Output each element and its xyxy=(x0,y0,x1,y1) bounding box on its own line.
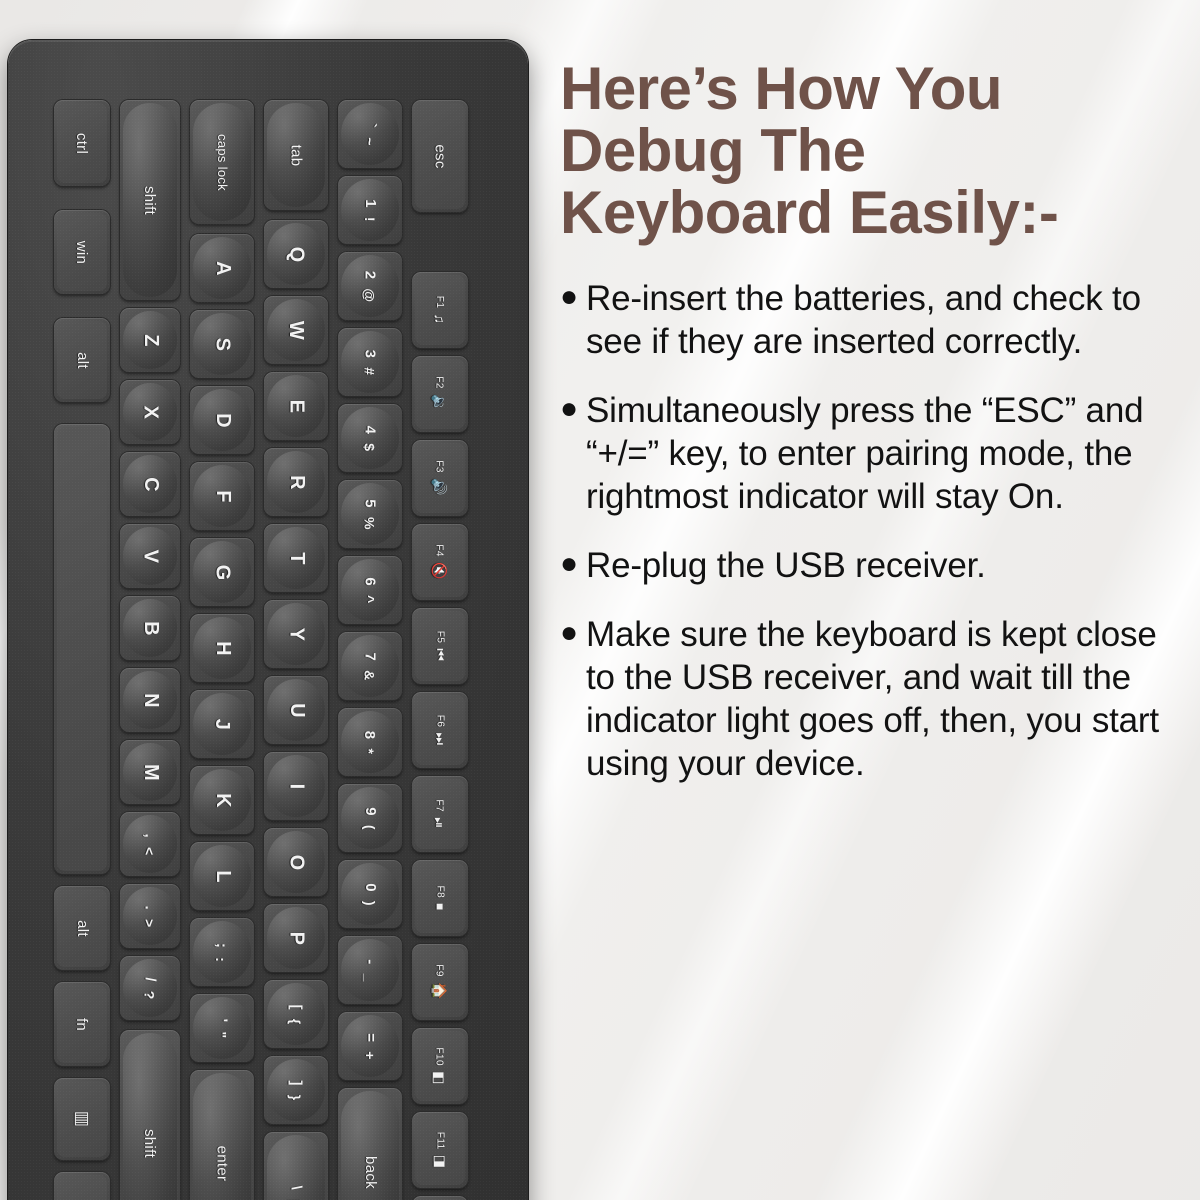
key-shifted-legend: ~ xyxy=(362,137,378,145)
key-label: U xyxy=(285,703,308,718)
key-fn[interactable]: fn xyxy=(54,982,110,1066)
key-shifted-legend: < xyxy=(142,846,158,854)
key-shifted-legend: * xyxy=(362,748,378,754)
list-item-text: Make sure the keyboard is kept close to … xyxy=(586,613,1186,785)
key-base-legend: , xyxy=(141,833,158,837)
key-r[interactable]: R xyxy=(264,448,328,516)
fn-label: F10 xyxy=(434,1047,445,1066)
key-o[interactable]: O xyxy=(264,828,328,896)
key-enter[interactable]: enter xyxy=(190,1070,254,1200)
key-shifted-legend: ! xyxy=(362,216,378,221)
key-label: J xyxy=(211,718,234,729)
next-track-icon: ⏭ xyxy=(433,732,447,745)
key-label: F xyxy=(211,490,234,503)
browser-back-icon: ◧ xyxy=(433,1071,447,1085)
key-label: R xyxy=(285,475,308,490)
key-tab[interactable]: tab xyxy=(264,100,328,210)
key-d[interactable]: D xyxy=(190,386,254,454)
fn-label: F4 xyxy=(435,544,446,557)
key-label: % 5 xyxy=(362,499,379,529)
key-e[interactable]: E xyxy=(264,372,328,440)
key-label: shift xyxy=(141,1128,158,1157)
title-line-2: Debug The xyxy=(560,120,1186,182)
fn-label: F8 xyxy=(434,886,445,899)
key-label: & 7 xyxy=(361,652,378,680)
title-line-3: Keyboard Easily:- xyxy=(560,182,1186,244)
key-label: alt xyxy=(74,920,91,937)
key-x[interactable]: X xyxy=(120,380,180,444)
key-f3[interactable]: 🔊 F3 xyxy=(412,440,468,516)
key-shifted-legend: ) xyxy=(362,900,378,905)
key-slash[interactable]: ? / xyxy=(120,956,180,1020)
key-label: L xyxy=(211,870,234,883)
key-shifted-legend: ? xyxy=(142,990,158,999)
fn-label: F7 xyxy=(434,799,445,812)
key-win[interactable]: win xyxy=(54,210,110,294)
content-panel: Here’s How You Debug The Keyboard Easily… xyxy=(552,0,1200,1200)
key-base-legend: 6 xyxy=(361,577,378,586)
key-a[interactable]: A xyxy=(190,234,254,302)
key-c[interactable]: C xyxy=(120,452,180,516)
key-label: 🔉 F2 xyxy=(433,376,447,411)
key-shifted-legend: @ xyxy=(362,288,378,302)
key-8[interactable]: * 8 xyxy=(338,708,402,776)
key-shifted-legend: ( xyxy=(362,824,378,829)
key-f5[interactable]: ⏮ F5 xyxy=(412,608,468,684)
key-bracket-right[interactable]: } ] xyxy=(264,1056,328,1124)
key-label: } ] xyxy=(287,1080,304,1100)
key-y[interactable]: Y xyxy=(264,600,328,668)
fn-label: F1 xyxy=(434,296,445,309)
key-equals[interactable]: + = xyxy=(338,1012,402,1080)
key-label: _ - xyxy=(361,959,378,981)
key-shifted-legend: _ xyxy=(362,973,378,981)
key-label: H xyxy=(211,641,234,656)
key-label: T xyxy=(285,552,308,565)
key-n[interactable]: N xyxy=(120,668,180,732)
key-base-legend: . xyxy=(141,905,158,909)
key-7[interactable]: & 7 xyxy=(338,632,402,700)
key-label: 🔇 F4 xyxy=(433,544,447,579)
fn-label: F3 xyxy=(435,460,446,473)
key-label: " ' xyxy=(213,1018,230,1038)
keyboard-image: ctrl win alt alt fn ▥ ctrl xyxy=(0,40,537,1200)
key-q[interactable]: Q xyxy=(264,220,328,288)
key-label: W xyxy=(285,320,308,339)
key-caps-lock[interactable]: caps lock xyxy=(190,100,254,224)
list-item: ● Re-plug the USB receiver. xyxy=(560,544,1186,587)
key-k[interactable]: K xyxy=(190,766,254,834)
key-alt-top[interactable]: alt xyxy=(54,318,110,402)
key-shifted-legend: " xyxy=(214,1031,230,1038)
key-base-legend: 3 xyxy=(362,349,379,358)
home-icon: 🏠 xyxy=(433,982,447,1000)
key-label: 🏠 F9 xyxy=(433,964,447,999)
key-shifted-legend: > xyxy=(142,918,158,926)
key-f[interactable]: F xyxy=(190,462,254,530)
key-label: ! 1 xyxy=(362,199,379,222)
fn-label: F2 xyxy=(435,376,446,389)
key-semicolon[interactable]: : ; xyxy=(190,918,254,986)
key-h[interactable]: H xyxy=(190,614,254,682)
key-z[interactable]: Z xyxy=(120,308,180,372)
key-g[interactable]: G xyxy=(190,538,254,606)
key-shift-bottom[interactable]: shift xyxy=(120,1030,180,1200)
key-esc[interactable]: esc xyxy=(412,100,468,212)
key-comma[interactable]: < , xyxy=(120,812,180,876)
key-shifted-legend: % xyxy=(362,516,378,529)
key-shifted-legend: & xyxy=(362,670,378,680)
key-label: Y xyxy=(284,627,307,641)
fn-label: F9 xyxy=(435,964,446,977)
key-f4[interactable]: 🔇 F4 xyxy=(412,524,468,600)
key-label: S xyxy=(210,337,233,351)
key-minus[interactable]: _ - xyxy=(338,936,402,1004)
key-label: N xyxy=(139,693,162,708)
key-label: esc xyxy=(432,144,449,168)
key-u[interactable]: U xyxy=(264,676,328,744)
key-m[interactable]: M xyxy=(120,740,180,804)
key-4[interactable]: $ 4 xyxy=(338,404,402,472)
page-title: Here’s How You Debug The Keyboard Easily… xyxy=(560,58,1186,243)
key-label: caps lock xyxy=(214,134,229,191)
key-label: # 3 xyxy=(362,349,379,375)
key-f1[interactable]: ♫ F1 xyxy=(412,272,468,348)
fn-label: F5 xyxy=(434,631,445,644)
key-0[interactable]: ) 0 xyxy=(338,860,402,928)
key-ctrl-top[interactable]: ctrl xyxy=(54,100,110,186)
title-line-1: Here’s How You xyxy=(560,58,1186,120)
key-shifted-legend: $ xyxy=(362,443,378,451)
key-alt-bottom[interactable]: alt xyxy=(54,886,110,970)
key-shifted-legend: + xyxy=(362,1051,378,1059)
key-period[interactable]: > . xyxy=(120,884,180,948)
key-9[interactable]: ( 9 xyxy=(338,784,402,852)
music-note-icon: ♫ xyxy=(433,313,447,324)
instruction-list: ● Re-insert the batteries, and check to … xyxy=(560,277,1186,785)
key-f7[interactable]: ⏯ F7 xyxy=(412,776,468,852)
key-p[interactable]: P xyxy=(264,904,328,972)
key-label: I xyxy=(284,783,307,789)
key-l[interactable]: L xyxy=(190,842,254,910)
key-label: win xyxy=(73,240,90,263)
key-label: ⏹ F8 xyxy=(433,886,447,911)
key-v[interactable]: V xyxy=(120,524,180,588)
play-pause-icon: ⏯ xyxy=(433,817,447,829)
key-base-legend: [ xyxy=(287,1004,304,1009)
key-label: alt xyxy=(74,352,91,369)
fn-label: F11 xyxy=(435,1132,446,1150)
key-2[interactable]: @ 2 xyxy=(338,252,402,320)
key-base-legend: ' xyxy=(213,1018,230,1022)
key-backtick[interactable]: ~ ` xyxy=(338,100,402,168)
key-shift-top[interactable]: shift xyxy=(120,100,180,300)
key-label: D xyxy=(211,413,234,428)
key-base-legend: ] xyxy=(287,1080,304,1085)
list-item: ● Simultaneously press the “ESC” and “+/… xyxy=(560,389,1186,518)
key-base-legend: - xyxy=(361,959,378,964)
key-f10[interactable]: ◧ F10 xyxy=(412,1028,468,1104)
key-label: O xyxy=(284,854,307,870)
key-3[interactable]: # 3 xyxy=(338,328,402,396)
list-item: ● Make sure the keyboard is kept close t… xyxy=(560,613,1186,785)
bullet-icon: ● xyxy=(560,544,586,584)
list-item-text: Re-plug the USB receiver. xyxy=(586,544,986,587)
key-base-legend: ; xyxy=(213,942,230,947)
key-label: ? / xyxy=(141,977,158,999)
key-f9[interactable]: 🏠 F9 xyxy=(412,944,468,1020)
key-label: * 8 xyxy=(362,730,379,753)
key-shifted-legend: } xyxy=(288,1094,304,1100)
key-base-legend: 2 xyxy=(361,270,378,279)
menu-icon: ▥ xyxy=(72,1111,92,1127)
key-w[interactable]: W xyxy=(264,296,328,364)
bullet-icon: ● xyxy=(560,613,586,653)
list-item-text: Re-insert the batteries, and check to se… xyxy=(586,277,1186,363)
key-label: ctrl xyxy=(73,132,90,153)
key-label: C xyxy=(139,477,162,492)
key-base-legend: 4 xyxy=(362,425,379,434)
key-base-legend: 8 xyxy=(362,730,379,739)
key-j[interactable]: J xyxy=(190,690,254,758)
key-label: Z xyxy=(139,334,162,347)
key-label: 🔊 F3 xyxy=(433,460,447,495)
key-label: A xyxy=(211,261,234,276)
key-backspace[interactable]: back xyxy=(338,1088,402,1200)
key-1[interactable]: ! 1 xyxy=(338,176,402,244)
key-label: ⏯ F7 xyxy=(433,799,447,828)
key-base-legend: 5 xyxy=(362,499,379,508)
key-base-legend: 0 xyxy=(362,883,379,892)
key-label: : ; xyxy=(213,942,230,961)
key-base-legend: 7 xyxy=(361,652,378,661)
key-label: ~ ` xyxy=(362,123,379,146)
key-shifted-legend: ^ xyxy=(362,595,378,603)
key-ctrl-bottom[interactable]: ctrl xyxy=(54,1172,110,1200)
key-f6[interactable]: ⏭ F6 xyxy=(412,692,468,768)
key-label: ♫ F1 xyxy=(433,296,447,324)
key-t[interactable]: T xyxy=(264,524,328,592)
key-label: { [ xyxy=(287,1004,304,1024)
key-label: ◧ F10 xyxy=(433,1047,447,1084)
key-label: @ 2 xyxy=(361,270,378,302)
bullet-icon: ● xyxy=(560,277,586,317)
key-label: $ 4 xyxy=(362,425,379,451)
key-space[interactable] xyxy=(54,424,110,874)
key-i[interactable]: I xyxy=(264,752,328,820)
key-quote[interactable]: " ' xyxy=(190,994,254,1062)
key-base-legend: / xyxy=(141,977,158,981)
previous-track-icon: ⏮ xyxy=(433,648,447,661)
key-label: Q xyxy=(284,246,307,262)
key-label: + = xyxy=(361,1033,378,1060)
key-label: V xyxy=(138,549,161,563)
key-label: ◨ F11 xyxy=(433,1132,447,1169)
key-label: enter xyxy=(213,1145,230,1181)
key-shifted-legend: # xyxy=(362,367,378,375)
key-label: < , xyxy=(141,833,158,855)
key-label: shift xyxy=(141,185,158,214)
key-backslash[interactable]: | \ xyxy=(264,1132,328,1200)
key-label: K xyxy=(211,793,234,808)
key-label: tab xyxy=(287,144,304,166)
key-label: X xyxy=(138,405,161,419)
key-label: B xyxy=(139,621,162,636)
mute-icon: 🔇 xyxy=(433,562,447,580)
key-s[interactable]: S xyxy=(190,310,254,378)
key-label: | \ xyxy=(288,1185,305,1200)
key-label: P xyxy=(284,931,307,945)
key-shifted-legend: : xyxy=(214,957,230,962)
list-item: ● Re-insert the batteries, and check to … xyxy=(560,277,1186,363)
key-menu[interactable]: ▥ xyxy=(54,1078,110,1160)
key-label: fn xyxy=(74,1017,91,1030)
key-label: > . xyxy=(141,905,158,927)
browser-forward-icon: ◨ xyxy=(433,1155,447,1169)
key-base-legend: = xyxy=(361,1033,378,1042)
volume-up-icon: 🔊 xyxy=(433,478,447,496)
key-base-legend: \ xyxy=(288,1185,305,1189)
key-label: ⏭ F6 xyxy=(433,715,447,746)
key-label: M xyxy=(139,764,162,781)
key-label: ) 0 xyxy=(362,883,379,906)
volume-down-icon: 🔉 xyxy=(433,394,447,412)
key-label: ^ 6 xyxy=(361,577,378,603)
stop-icon: ⏹ xyxy=(433,903,447,910)
keyboard-body: ctrl win alt alt fn ▥ ctrl xyxy=(8,40,528,1200)
key-base-legend: 1 xyxy=(362,199,379,208)
list-item-text: Simultaneously press the “ESC” and “+/=”… xyxy=(586,389,1186,518)
fn-label: F6 xyxy=(434,715,445,728)
key-b[interactable]: B xyxy=(120,596,180,660)
key-base-legend: 9 xyxy=(362,807,379,816)
key-f11[interactable]: ◨ F11 xyxy=(412,1112,468,1188)
key-f2[interactable]: 🔉 F2 xyxy=(412,356,468,432)
key-label: ( 9 xyxy=(362,807,379,830)
key-label: ⏮ F5 xyxy=(433,631,447,662)
bullet-icon: ● xyxy=(560,389,586,429)
key-label: back xyxy=(361,1156,378,1189)
key-shifted-legend: { xyxy=(288,1018,304,1024)
key-base-legend: ` xyxy=(362,123,379,128)
key-bracket-left[interactable]: { [ xyxy=(264,980,328,1048)
key-label: E xyxy=(284,399,307,413)
key-6[interactable]: ^ 6 xyxy=(338,556,402,624)
key-f8[interactable]: ⏹ F8 xyxy=(412,860,468,936)
key-label: G xyxy=(210,564,233,580)
key-5[interactable]: % 5 xyxy=(338,480,402,548)
